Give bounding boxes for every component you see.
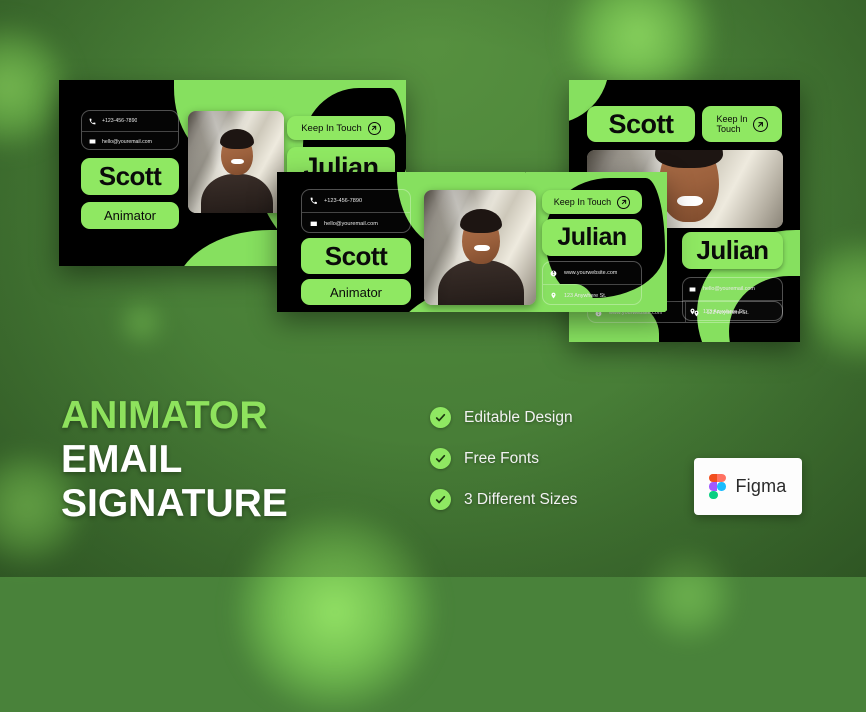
arrow-up-right-icon: [368, 122, 381, 135]
keep-in-touch-label-line1: Keep In: [716, 114, 747, 124]
contact-row-email[interactable]: hello@youremail.com: [302, 212, 410, 233]
contact-row-phone[interactable]: +123-456-7890: [82, 111, 178, 131]
contact-address-text: 123 Anywhere St.: [564, 293, 606, 299]
contact-row-email[interactable]: hello@youremail.com: [82, 131, 178, 150]
contact-phone-text: +123-456-7890: [324, 198, 362, 204]
signature-card-middle: +123-456-7890 hello@youremail.com Scott …: [277, 172, 667, 312]
glow-blob: [235, 512, 435, 712]
contact-info-box: +123-456-7890 hello@youremail.com: [301, 189, 411, 233]
contact-address-text: 123 Anywhere St.: [707, 310, 749, 316]
contact-website-text: www.yourwebsite.com: [564, 270, 617, 276]
name-pill[interactable]: Scott: [587, 106, 695, 142]
keep-in-touch-label-line2: Touch: [716, 124, 747, 134]
check-circle-icon: [430, 489, 451, 510]
contact-email-text: hello@youremail.com: [703, 286, 755, 292]
keep-in-touch-button[interactable]: Keep In Touch: [287, 116, 395, 140]
contact-row-address[interactable]: 123 Anywhere St.: [686, 302, 783, 323]
list-item: 3 Different Sizes: [430, 489, 577, 510]
second-name-pill[interactable]: Julian: [682, 232, 783, 269]
glow-blob: [640, 548, 736, 644]
contact-row-website[interactable]: www.yourwebsite.com: [543, 262, 641, 284]
contact-phone-text: +123-456-7890: [102, 118, 137, 124]
keep-in-touch-label: Keep In Touch: [554, 197, 611, 207]
headline-line-3: SIGNATURE: [61, 484, 288, 523]
photo-shading: [188, 111, 284, 213]
figma-badge: Figma: [694, 458, 802, 515]
glow-blob: [800, 236, 866, 366]
avatar-photo: [424, 190, 536, 305]
contact-row-email[interactable]: hello@youremail.com: [683, 278, 782, 300]
globe-icon: [549, 269, 558, 278]
feature-list: Editable Design Free Fonts 3 Different S…: [430, 407, 577, 510]
check-circle-icon: [430, 448, 451, 469]
phone-icon: [309, 197, 318, 206]
contact-row-phone[interactable]: +123-456-7890: [302, 190, 410, 212]
envelope-icon: [688, 285, 697, 294]
role-pill[interactable]: Animator: [81, 202, 179, 229]
list-item: Free Fonts: [430, 448, 577, 469]
phone-icon: [88, 117, 96, 125]
envelope-icon: [309, 219, 318, 228]
keep-in-touch-button[interactable]: Keep In Touch: [542, 190, 642, 214]
name-pill[interactable]: Scott: [301, 238, 411, 274]
figma-badge-label: Figma: [735, 476, 786, 497]
pin-icon: [549, 291, 558, 300]
envelope-icon: [88, 138, 96, 146]
avatar-photo: [188, 111, 284, 213]
second-name-pill[interactable]: Julian: [542, 219, 642, 256]
glow-blob: [118, 300, 164, 346]
check-circle-icon: [430, 407, 451, 428]
feature-label: 3 Different Sizes: [464, 491, 577, 509]
pin-icon: [692, 309, 701, 318]
role-pill[interactable]: Animator: [301, 279, 411, 305]
headline-line-1: ANIMATOR: [61, 396, 288, 435]
figma-logo-icon: [709, 474, 726, 500]
page-title: ANIMATOR EMAIL SIGNATURE: [61, 396, 288, 523]
name-pill[interactable]: Scott: [81, 158, 179, 195]
contact-row-address[interactable]: 123 Anywhere St.: [543, 284, 641, 305]
headline-line-2: EMAIL: [61, 440, 288, 479]
list-item: Editable Design: [430, 407, 577, 428]
contact-email-text: hello@youremail.com: [324, 221, 378, 227]
contact-info-box: +123-456-7890 hello@youremail.com: [81, 110, 179, 150]
keep-in-touch-label: Keep In Touch: [301, 123, 362, 134]
keep-in-touch-label-wrap: Keep In Touch: [716, 114, 747, 134]
contact-info-box-right: www.yourwebsite.com 123 Anywhere St.: [542, 261, 642, 305]
arrow-up-right-icon: [753, 117, 768, 132]
feature-label: Free Fonts: [464, 450, 539, 468]
feature-label: Editable Design: [464, 409, 573, 427]
arrow-up-right-icon: [617, 196, 630, 209]
photo-shading: [424, 190, 536, 305]
keep-in-touch-button[interactable]: Keep In Touch: [702, 106, 782, 142]
contact-email-text: hello@youremail.com: [102, 139, 152, 145]
